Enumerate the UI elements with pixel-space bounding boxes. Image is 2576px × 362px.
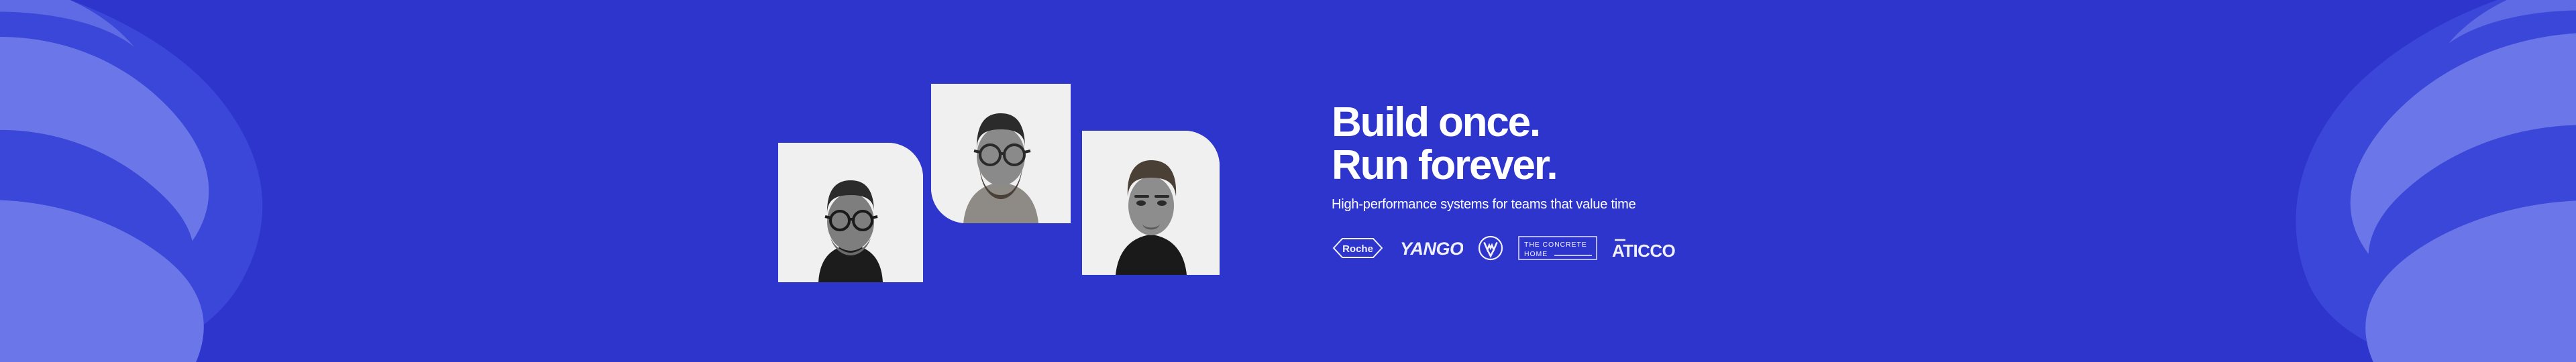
- svg-text:THE CONCRETE: THE CONCRETE: [1524, 241, 1587, 249]
- hero-text-block: Build once. Run forever. High-performanc…: [1332, 101, 1801, 261]
- portrait-card-3: [1082, 131, 1220, 275]
- aticco-logo: ATICCO: [1612, 236, 1682, 260]
- svg-text:YANGO: YANGO: [1400, 239, 1463, 259]
- svg-text:Roche: Roche: [1342, 243, 1373, 255]
- roche-logo: Roche: [1332, 237, 1384, 259]
- concrete-home-logo: THE CONCRETE HOME: [1518, 236, 1597, 260]
- portrait-photo-3: [1082, 131, 1220, 275]
- client-logo-strip: Roche YANGO: [1332, 235, 1801, 261]
- svg-text:HOME: HOME: [1524, 250, 1548, 258]
- hero-subtitle: High-performance systems for teams that …: [1332, 197, 1801, 213]
- headline-line-2: Run forever.: [1332, 144, 1801, 187]
- volkswagen-logo: [1478, 235, 1503, 261]
- yango-logo: YANGO: [1399, 237, 1463, 259]
- portrait-card-2: [931, 84, 1071, 223]
- svg-text:ATICCO: ATICCO: [1612, 241, 1676, 260]
- portrait-photo-2: [931, 84, 1071, 223]
- portrait-photo-1: [778, 143, 923, 282]
- team-portrait-group: [775, 70, 1231, 292]
- portrait-card-1: [778, 143, 923, 282]
- headline-line-1: Build once.: [1332, 101, 1801, 144]
- hero-banner: Build once. Run forever. High-performanc…: [0, 0, 2576, 362]
- hero-content: Build once. Run forever. High-performanc…: [0, 0, 2576, 362]
